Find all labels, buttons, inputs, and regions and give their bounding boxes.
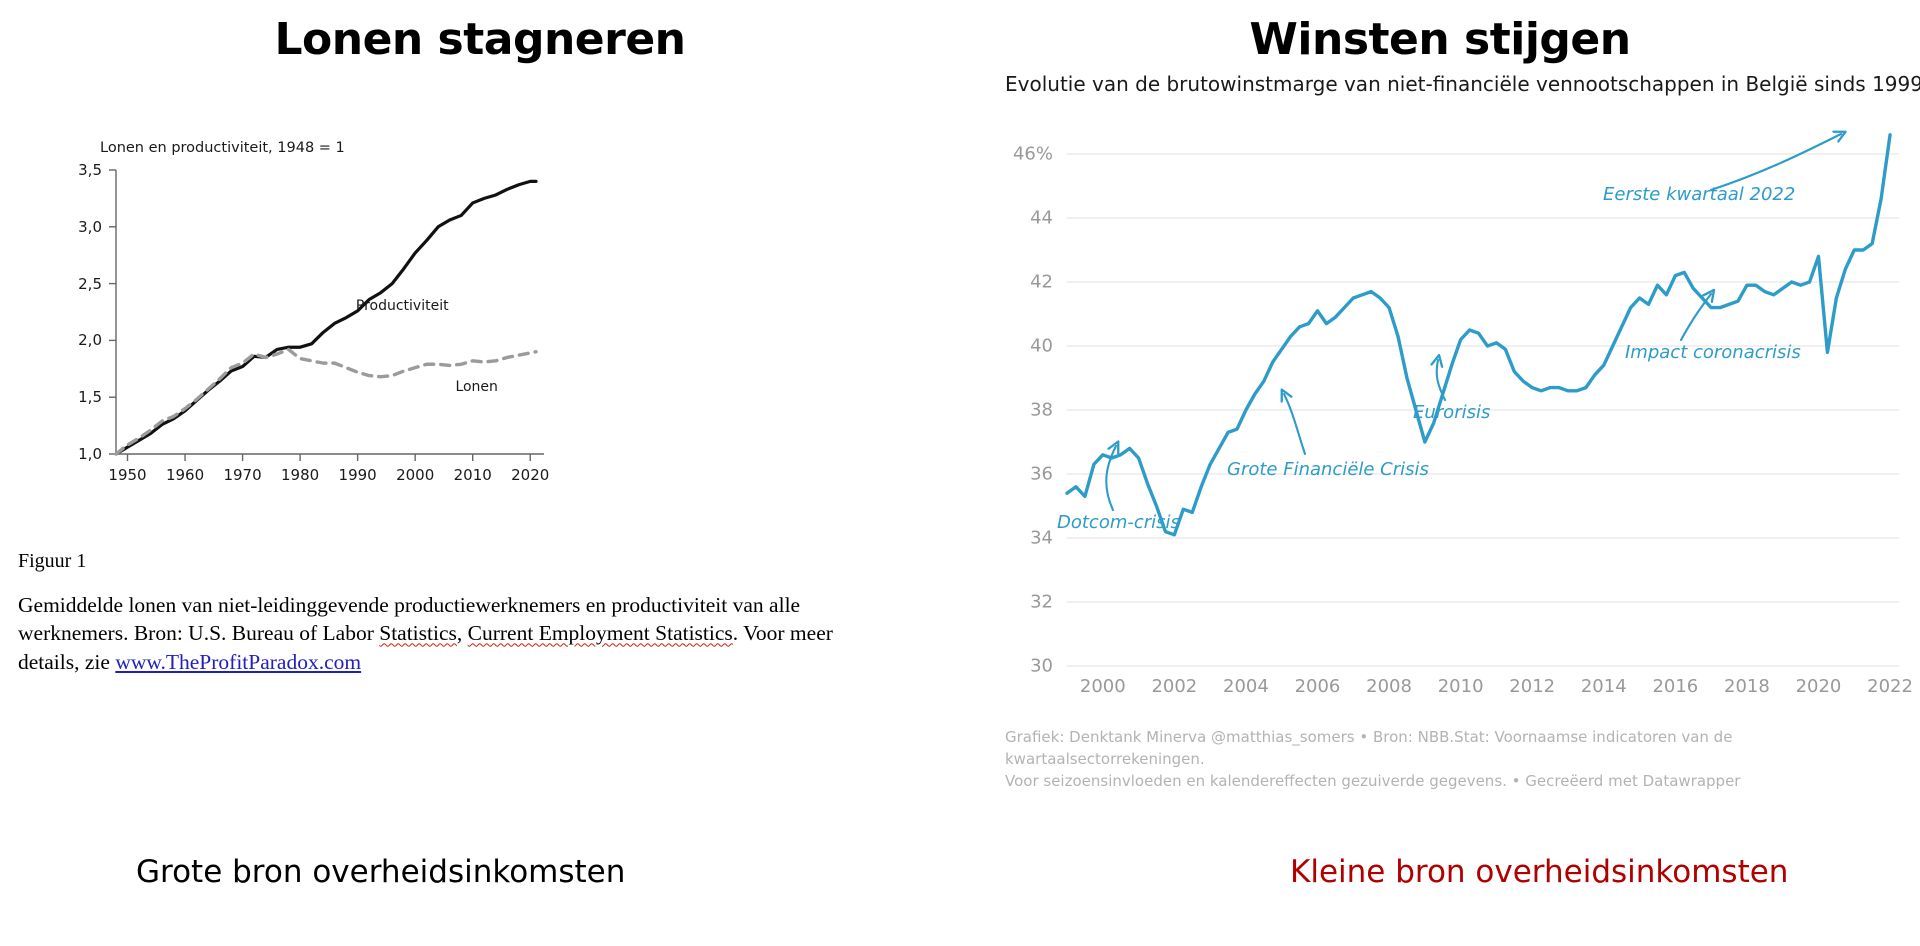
figure-caption-body: Gemiddelde lonen van niet-leidinggevende… [18,591,848,676]
annotation-arrow [1284,394,1305,454]
figure-caption-label: Figuur 1 [18,550,848,573]
profit-chart-subtitle: Evolutie van de brutowinstmarge van niet… [1005,72,1920,96]
profit-margin-figure: Evolutie van de brutowinstmarge van niet… [1005,72,1905,772]
bottom-label-right: Kleine bron overheidsinkomsten [1290,854,1788,890]
bottom-label-left: Grote bron overheidsinkomsten [136,854,625,890]
annotation-impact-coronacrisis: Impact coronacrisis [1625,342,1801,363]
profit-paradox-link[interactable]: www.TheProfitParadox.com [115,650,361,674]
profit-y-tick-label: 44 [1005,208,1053,229]
profit-x-tick-label: 2014 [1581,676,1627,697]
profit-y-tick-label: 42 [1005,272,1053,293]
profit-y-tick-label: 30 [1005,656,1053,677]
wages-y-tick-label: 3,5 [68,161,102,179]
profit-y-tick-label: 40 [1005,336,1053,357]
figure-caption: Figuur 1 Gemiddelde lonen van niet-leidi… [18,550,848,676]
profit-x-tick-label: 2016 [1652,676,1698,697]
series-label-lonen: Lonen [455,379,497,395]
footer-line-1: Grafiek: Denktank Minerva @matthias_some… [1005,727,1905,771]
wages-y-tick-label: 3,0 [68,218,102,236]
profit-x-tick-label: 2010 [1438,676,1484,697]
left-panel: Lonen stagneren Lonen en productiviteit,… [0,0,960,946]
profit-y-tick-label: 46% [1005,144,1053,165]
annotation-arrow [1711,134,1841,190]
profit-x-tick-label: 2022 [1867,676,1913,697]
wages-series-line [116,181,536,454]
wages-y-tick-label: 2,5 [68,275,102,293]
wages-x-tick-label: 2000 [396,466,434,484]
profit-y-tick-label: 32 [1005,592,1053,613]
profit-x-tick-label: 2008 [1366,676,1412,697]
profit-x-tick-label: 2002 [1151,676,1197,697]
profit-y-tick-label: 38 [1005,400,1053,421]
caption-spellcheck-1: Statistics [379,621,457,645]
series-label-productiviteit: Productiviteit [356,298,449,314]
profit-y-tick-label: 36 [1005,464,1053,485]
profit-x-tick-label: 2006 [1295,676,1341,697]
wages-x-tick-label: 1960 [166,466,204,484]
wages-productivity-figure: Lonen en productiviteit, 1948 = 1 1,01,5… [68,140,598,530]
wages-x-tick-label: 1990 [339,466,377,484]
wages-series-line [116,349,536,454]
profit-x-tick-label: 2018 [1724,676,1770,697]
profit-y-tick-label: 34 [1005,528,1053,549]
profit-x-tick-label: 2000 [1080,676,1126,697]
profit-chart-plot: 303234363840424446%200020022004200620082… [1005,112,1905,712]
annotation-dotcom-crisis: Dotcom-crisis [1057,512,1180,533]
footer-line-2: Voor seizoensinvloeden en kalendereffect… [1005,771,1905,793]
annotation-arrow [1681,294,1711,340]
caption-spellcheck-2: Current Employment Statistics [468,621,733,645]
wages-x-tick-label: 1950 [108,466,146,484]
wages-chart-title: Lonen en productiviteit, 1948 = 1 [100,140,345,156]
wages-x-tick-label: 2020 [511,466,549,484]
wages-y-tick-label: 1,0 [68,445,102,463]
annotation-grote-financiele-crisis: Grote Financiële Crisis [1227,459,1429,480]
wages-x-tick-label: 2010 [454,466,492,484]
annotation-eurorisis: Eurorisis [1413,402,1490,423]
wages-y-tick-label: 1,5 [68,388,102,406]
left-heading: Lonen stagneren [0,14,960,65]
profit-x-tick-label: 2012 [1509,676,1555,697]
caption-text-2: , [457,621,468,645]
wages-chart-svg [68,162,598,502]
annotation-eerste-kwartaal-2022: Eerste kwartaal 2022 [1603,184,1795,205]
wages-x-tick-label: 1970 [223,466,261,484]
wages-y-tick-label: 2,0 [68,331,102,349]
profit-chart-footer: Grafiek: Denktank Minerva @matthias_some… [1005,727,1905,792]
right-heading: Winsten stijgen [960,14,1920,65]
profit-x-tick-label: 2020 [1796,676,1842,697]
wages-chart-plot: 1,01,52,02,53,03,51950196019701980199020… [68,162,598,502]
wages-x-tick-label: 1980 [281,466,319,484]
profit-x-tick-label: 2004 [1223,676,1269,697]
